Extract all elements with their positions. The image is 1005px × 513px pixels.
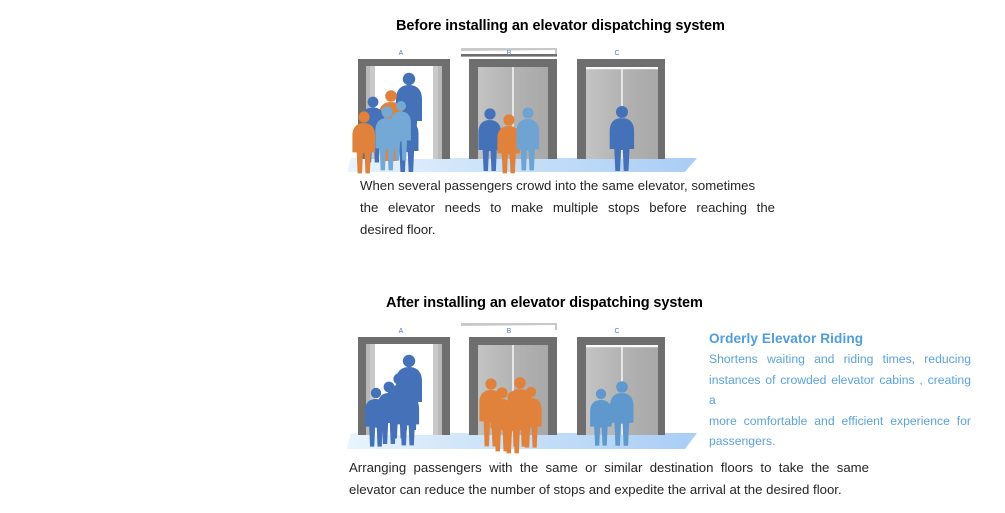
callout-line-3: more comfortable and efficient experienc…: [709, 411, 971, 432]
section-after: After installing an elevator dispatching…: [0, 285, 1005, 513]
elevator-a-label: A: [399, 50, 404, 57]
callout-body: Shortens waiting and riding times, reduc…: [709, 349, 971, 452]
elevator-c-label: C: [614, 328, 619, 335]
before-paragraph-line-3: desired floor.: [360, 219, 775, 241]
before-paragraph-line-2: the elevator needs to make multiple stop…: [360, 197, 775, 219]
after-paragraph-line-2: elevator can reduce the number of stops …: [349, 479, 869, 501]
callout-line-2: instances of crowded elevator cabins , c…: [709, 370, 971, 411]
after-paragraph-line-1: Arranging passengers with the same or si…: [349, 457, 869, 479]
elevator-b-label: B: [507, 50, 512, 57]
elevator-a-label: A: [399, 328, 404, 335]
before-heading: Before installing an elevator dispatchin…: [396, 18, 725, 34]
after-heading: After installing an elevator dispatching…: [386, 295, 703, 311]
section-before: Before installing an elevator dispatchin…: [0, 0, 1005, 260]
callout-line-4: passengers.: [709, 431, 971, 452]
callout-line-1: Shortens waiting and riding times, reduc…: [709, 349, 971, 370]
elevator-b-label: B: [507, 328, 512, 335]
elevator-c-label: C: [614, 50, 619, 57]
before-paragraph: When several passengers crowd into the s…: [360, 175, 775, 241]
before-illustration: A: [345, 44, 705, 174]
after-paragraph: Arranging passengers with the same or si…: [349, 457, 869, 501]
callout-title: Orderly Elevator Riding: [709, 331, 971, 346]
orderly-riding-callout: Orderly Elevator Riding Shortens waiting…: [709, 331, 971, 452]
after-illustration: A: [345, 321, 705, 451]
before-paragraph-line-1: When several passengers crowd into the s…: [360, 175, 775, 197]
